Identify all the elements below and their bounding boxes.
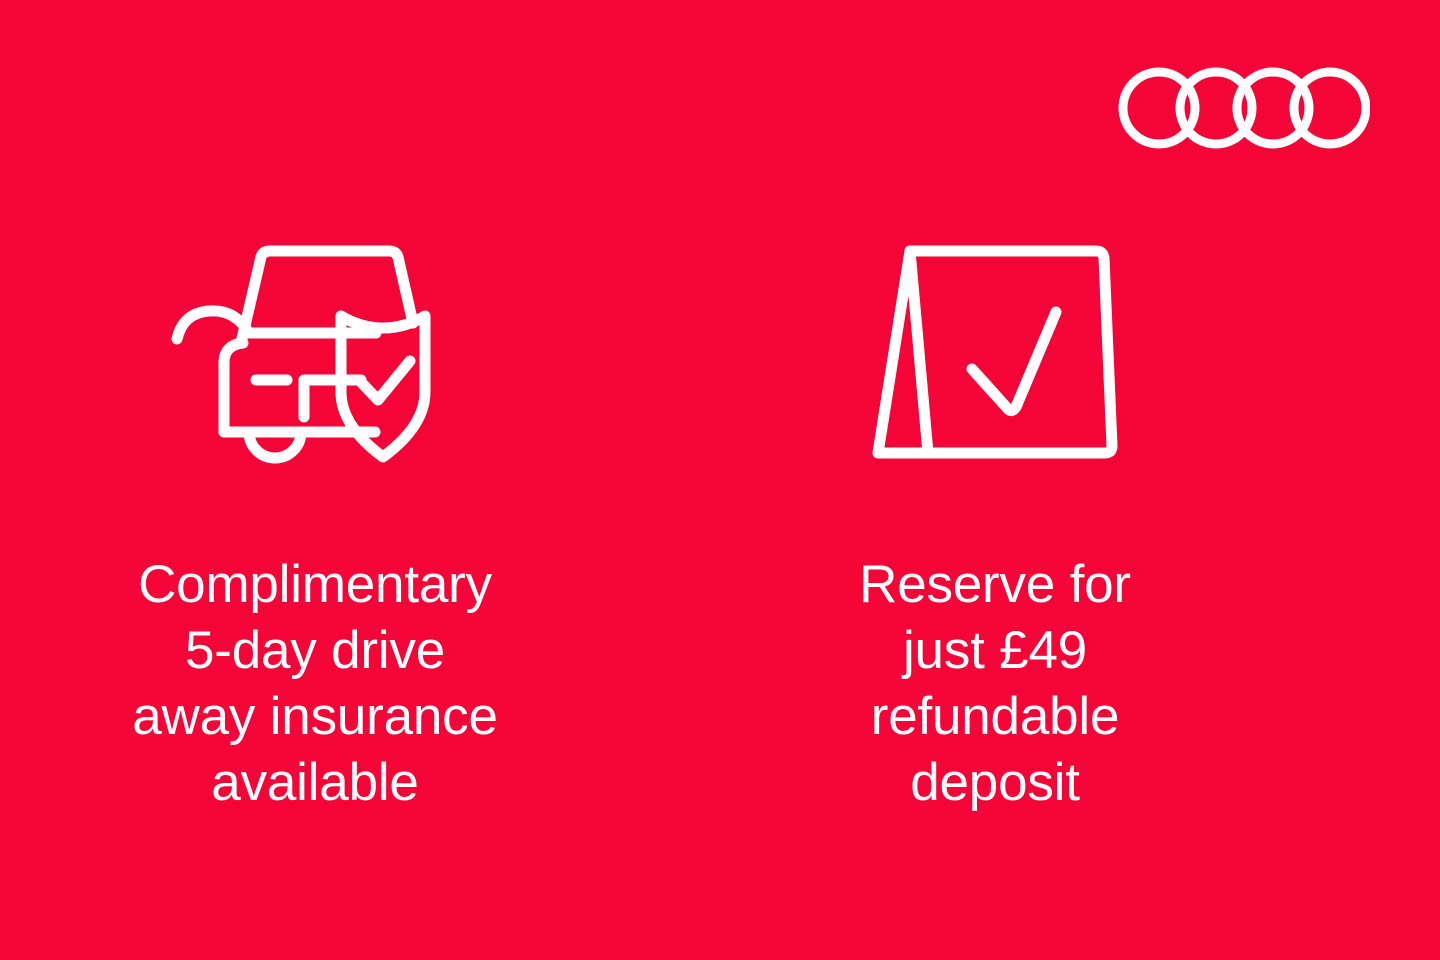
feature-icon-wrapper xyxy=(165,230,465,480)
feature-caption-complimentary-insurance: Complimentary 5-day drive away insurance… xyxy=(132,552,497,816)
audi-four-rings-icon xyxy=(1118,62,1370,154)
reservation-card-check-icon xyxy=(860,239,1130,471)
feature-refundable-deposit: Reserve for just £49 refundable deposit xyxy=(715,230,1275,816)
feature-icon-wrapper xyxy=(860,230,1130,480)
feature-caption-refundable-deposit: Reserve for just £49 refundable deposit xyxy=(859,552,1131,816)
feature-grid: Complimentary 5-day drive away insurance… xyxy=(0,230,1440,816)
feature-complimentary-insurance: Complimentary 5-day drive away insurance… xyxy=(35,230,595,816)
audi-brand-logo xyxy=(1118,62,1370,154)
car-shield-check-icon xyxy=(165,239,465,471)
